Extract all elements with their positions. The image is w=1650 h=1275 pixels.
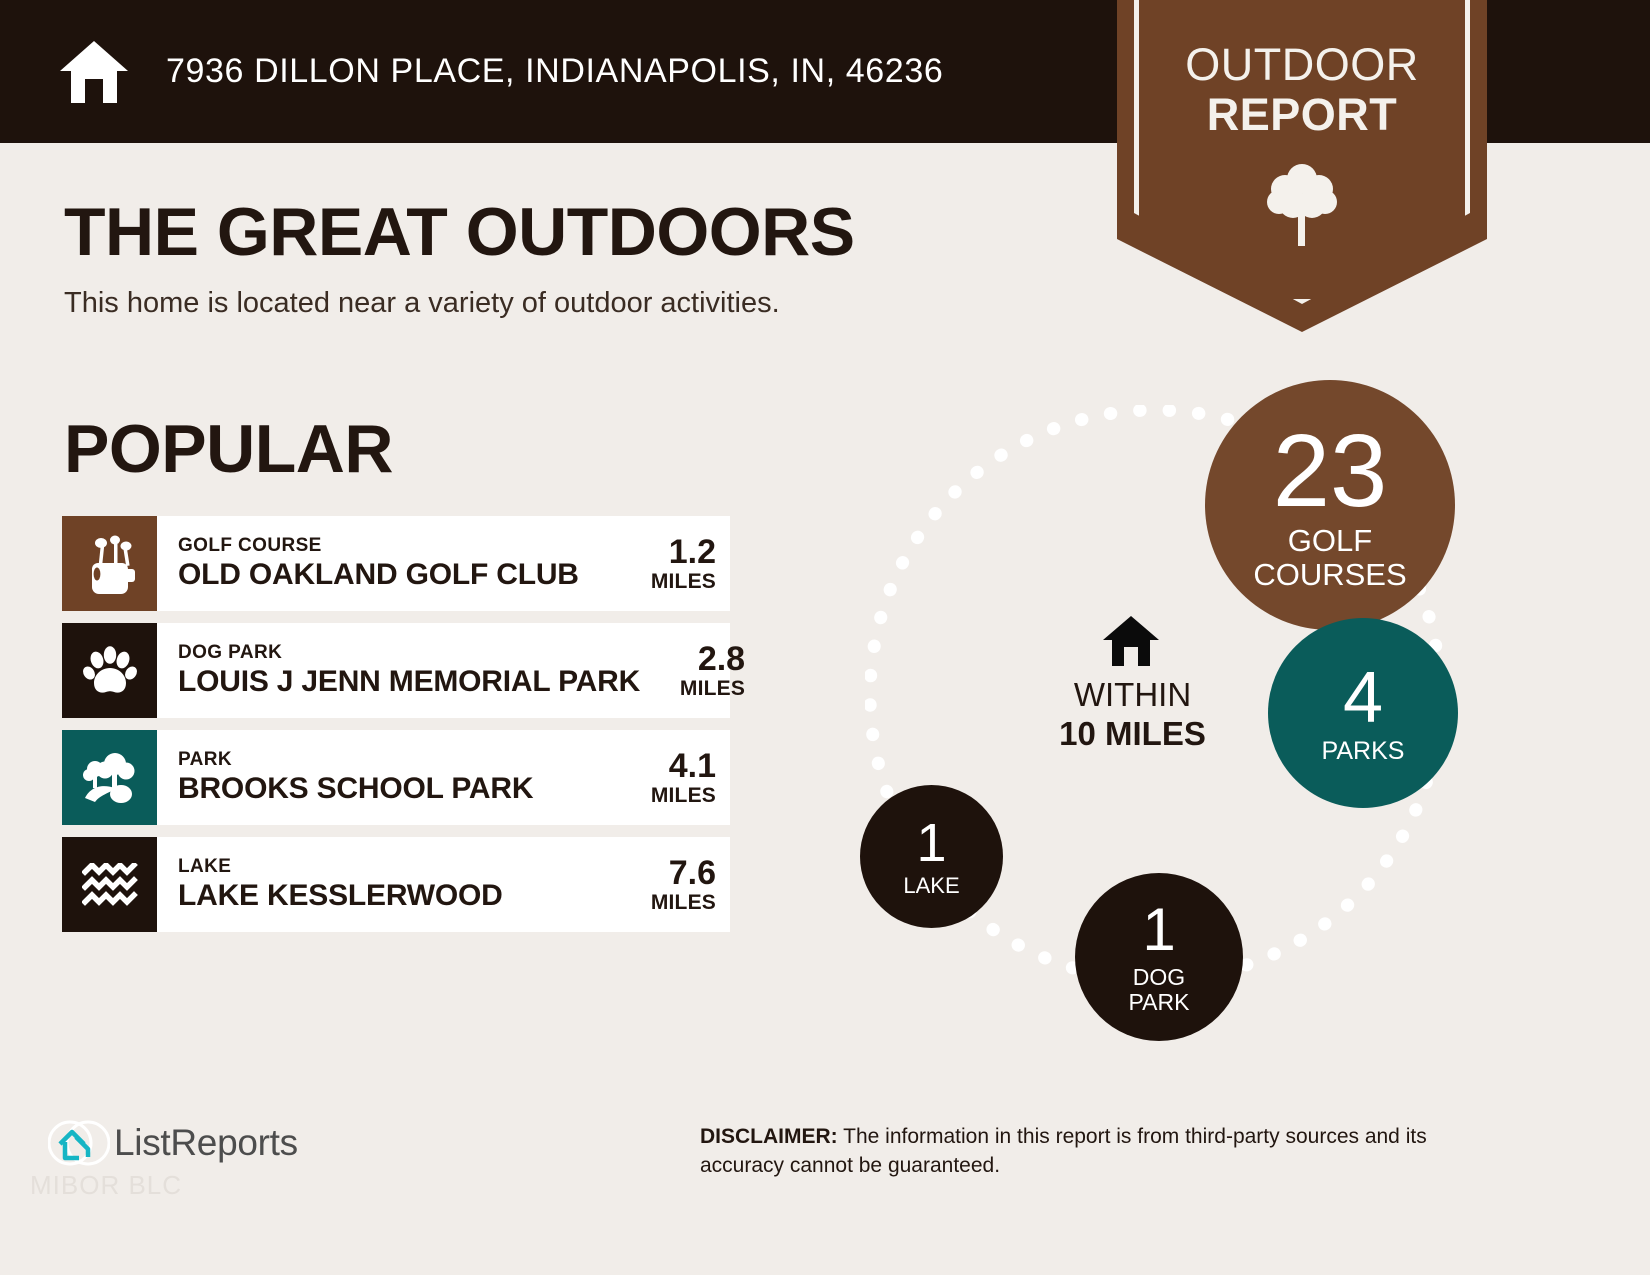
stat-bubble-golf-courses[interactable]: 23 GOLF COURSES xyxy=(1205,380,1455,630)
distance-value: 2.8 xyxy=(698,641,745,677)
distance-value: 4.1 xyxy=(669,748,716,784)
badge-title-line2: REPORT xyxy=(1117,90,1487,140)
badge-title-line1: OUTDOOR xyxy=(1185,39,1419,90)
stat-label-line1: DOG xyxy=(1133,965,1185,990)
list-item-name: LOUIS J JENN MEMORIAL PARK xyxy=(178,664,640,700)
stat-bubble-dog-park[interactable]: 1 DOG PARK xyxy=(1075,873,1243,1041)
center-label: WITHIN 10 MILES xyxy=(1010,675,1255,753)
stat-label-line1: PARKS xyxy=(1322,738,1405,765)
disclaimer-label: DISCLAIMER: xyxy=(700,1125,838,1148)
disclaimer: DISCLAIMER: The information in this repo… xyxy=(700,1122,1510,1180)
golf-bag-icon xyxy=(62,516,157,611)
list-item-name: OLD OAKLAND GOLF CLUB xyxy=(178,557,611,593)
list-item-name: LAKE KESSLERWOOD xyxy=(178,878,611,914)
list-item-distance: 7.6 MILES xyxy=(611,837,730,932)
stat-count: 1 xyxy=(916,816,946,870)
center-label-line2: 10 MILES xyxy=(1010,714,1255,753)
list-item-distance: 2.8 MILES xyxy=(640,623,759,718)
property-address: 7936 DILLON PLACE, INDIANAPOLIS, IN, 462… xyxy=(166,52,943,91)
listreports-logo[interactable]: ListReports xyxy=(48,1113,298,1173)
distance-unit: MILES xyxy=(680,677,745,701)
list-item[interactable]: GOLF COURSE OLD OAKLAND GOLF CLUB 1.2 MI… xyxy=(62,516,730,611)
center-label-line1: WITHIN xyxy=(1074,676,1191,713)
list-item-category: LAKE xyxy=(178,856,611,878)
popular-list: GOLF COURSE OLD OAKLAND GOLF CLUB 1.2 MI… xyxy=(62,516,730,944)
home-icon xyxy=(58,39,130,105)
park-trees-icon xyxy=(62,730,157,825)
stat-bubble-lake[interactable]: 1 LAKE xyxy=(860,785,1003,928)
list-item-category: PARK xyxy=(178,749,611,771)
page-title: THE GREAT OUTDOORS xyxy=(64,193,855,271)
list-item-text: PARK BROOKS SCHOOL PARK xyxy=(157,730,611,825)
stat-label-line1: LAKE xyxy=(903,874,959,898)
distance-unit: MILES xyxy=(651,784,716,808)
listreports-wordmark: ListReports xyxy=(114,1122,298,1164)
list-item-text: DOG PARK LOUIS J JENN MEMORIAL PARK xyxy=(157,623,640,718)
water-waves-icon xyxy=(62,837,157,932)
list-item-category: DOG PARK xyxy=(178,642,640,664)
stat-label-line2: COURSES xyxy=(1253,558,1406,591)
page-subtitle: This home is located near a variety of o… xyxy=(64,287,780,320)
list-item[interactable]: LAKE LAKE KESSLERWOOD 7.6 MILES xyxy=(62,837,730,932)
distance-unit: MILES xyxy=(651,891,716,915)
within-10-miles-diagram: WITHIN 10 MILES 23 GOLF COURSES 4 PARKS … xyxy=(830,360,1530,1060)
list-item-category: GOLF COURSE xyxy=(178,535,611,557)
list-item-text: GOLF COURSE OLD OAKLAND GOLF CLUB xyxy=(157,516,611,611)
listreports-house-icon xyxy=(48,1113,110,1173)
distance-value: 1.2 xyxy=(669,534,716,570)
distance-value: 7.6 xyxy=(669,855,716,891)
paw-print-icon xyxy=(62,623,157,718)
list-item-distance: 4.1 MILES xyxy=(611,730,730,825)
list-item[interactable]: PARK BROOKS SCHOOL PARK 4.1 MILES xyxy=(62,730,730,825)
list-item-distance: 1.2 MILES xyxy=(611,516,730,611)
stat-count: 23 xyxy=(1273,419,1388,522)
list-item-text: LAKE LAKE KESSLERWOOD xyxy=(157,837,611,932)
stat-label-line2: PARK xyxy=(1129,990,1190,1015)
popular-heading: POPULAR xyxy=(64,410,393,488)
list-item[interactable]: DOG PARK LOUIS J JENN MEMORIAL PARK 2.8 … xyxy=(62,623,730,718)
stat-label-line1: GOLF xyxy=(1288,524,1372,557)
stat-count: 4 xyxy=(1343,662,1383,734)
list-item-name: BROOKS SCHOOL PARK xyxy=(178,771,611,807)
tree-icon xyxy=(1265,162,1339,248)
home-icon xyxy=(1102,615,1160,667)
distance-unit: MILES xyxy=(651,570,716,594)
badge-title: OUTDOOR REPORT xyxy=(1117,40,1487,140)
stat-bubble-parks[interactable]: 4 PARKS xyxy=(1268,618,1458,808)
stat-count: 1 xyxy=(1142,900,1175,960)
mibor-watermark: MIBOR BLC xyxy=(30,1170,182,1201)
